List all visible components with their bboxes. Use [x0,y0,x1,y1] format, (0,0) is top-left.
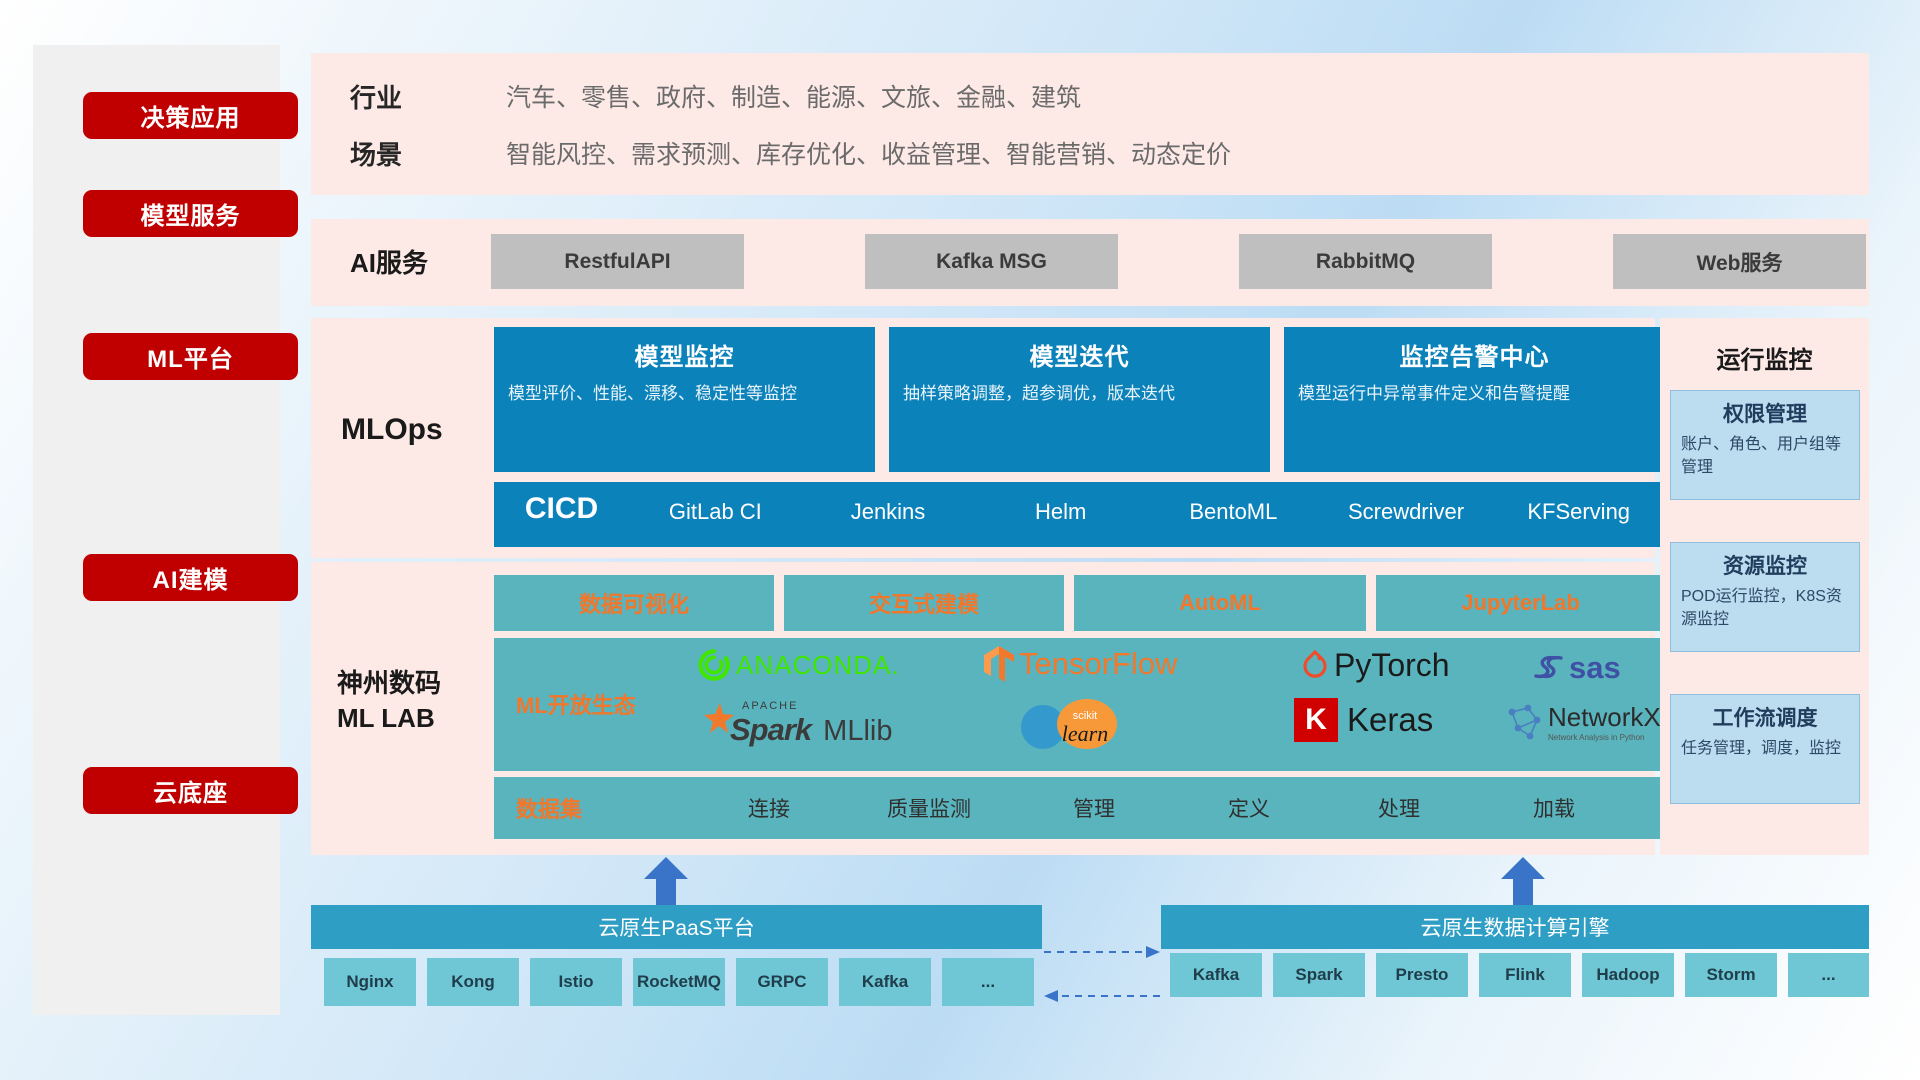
dataset-item-quality-monitor[interactable]: 质量监测 [844,777,1014,839]
keras-k-letter: K [1305,703,1327,737]
cicd-item-gitlab-ci[interactable]: GitLab CI [629,482,802,527]
ai-service-label: AI服务 [350,243,428,280]
dataset-item-connect[interactable]: 连接 [694,777,844,839]
cicd-item-kfserving[interactable]: KFServing [1492,482,1665,527]
cicd-item-jenkins[interactable]: Jenkins [802,482,975,527]
bidirectional-dashed-connector-icon [1042,940,1162,1010]
dataset-label: 数据集 [516,777,582,839]
tensorflow-logo: TensorFlow [982,644,1178,684]
cicd-strip: CICD GitLab CI Jenkins Helm BentoML Scre… [494,482,1665,547]
cicd-item-helm[interactable]: Helm [974,482,1147,527]
mlops-panel: MLOps 模型监控 模型评价、性能、漂移、稳定性等监控 模型迭代 抽样策略调整… [311,318,1655,558]
sas-logo: sas [1533,650,1621,686]
pytorch-mark [1300,649,1330,683]
engine-chip-hadoop[interactable]: Hadoop [1582,953,1674,997]
mllab-label-line2: ML LAB [337,701,441,736]
rail-item-decision-app[interactable]: 决策应用 [83,92,298,139]
mlops-card-title: 监控告警中心 [1298,337,1651,372]
pytorch-logo: PyTorch [1300,647,1450,684]
runtime-monitoring-panel: 运行监控 权限管理 账户、角色、用户组等管理 资源监控 POD运行监控，K8S资… [1660,318,1869,855]
anaconda-wordmark: ANACONDA. [736,650,900,681]
monitor-card-resource[interactable]: 资源监控 POD运行监控，K8S资源监控 [1670,542,1860,652]
mlops-card-alert-center[interactable]: 监控告警中心 模型运行中异常事件定义和告警提醒 [1284,327,1665,472]
keras-logo: K Keras [1294,698,1433,742]
mllab-eco-label: ML开放生态 [516,686,636,722]
ai-service-restfulapi[interactable]: RestfulAPI [491,234,744,289]
engine-chip-presto[interactable]: Presto [1376,953,1468,997]
engine-chip-more[interactable]: ... [1788,953,1869,997]
dataset-item-load[interactable]: 加载 [1474,777,1634,839]
ai-service-kafka-msg[interactable]: Kafka MSG [865,234,1118,289]
dataset-item-manage[interactable]: 管理 [1014,777,1174,839]
anaconda-mark [697,648,731,682]
mllab-tab-automl[interactable]: AutoML [1074,575,1366,631]
dataset-item-define[interactable]: 定义 [1174,777,1324,839]
mllib-wordmark: MLlib [823,715,892,748]
monitor-card-title: 工作流调度 [1681,702,1849,732]
scenario-value: 智能风控、需求预测、库存优化、收益管理、智能营销、动态定价 [506,135,1231,171]
monitor-card-workflow[interactable]: 工作流调度 任务管理，调度，监控 [1670,694,1860,804]
anaconda-logo: ANACONDA. [697,648,900,682]
cicd-item-screwdriver[interactable]: Screwdriver [1320,482,1493,527]
industry-value: 汽车、零售、政府、制造、能源、文旅、金融、建筑 [506,78,1081,114]
architecture-diagram: 决策应用 模型服务 ML平台 AI建模 云底座 行业 汽车、零售、政府、制造、能… [0,0,1920,1080]
scenario-label: 场景 [350,135,402,172]
mlops-card-desc: 抽样策略调整，超参调优，版本迭代 [903,382,1256,407]
mlops-card-model-iteration[interactable]: 模型迭代 抽样策略调整，超参调优，版本迭代 [889,327,1270,472]
tensorflow-mark [982,644,1016,684]
mllab-tab-interactive-modeling[interactable]: 交互式建模 [784,575,1064,631]
engine-up-arrow-icon [1499,857,1547,907]
rail-item-cloud-base[interactable]: 云底座 [83,767,298,814]
spark-mllib-logo: APACHE Spark MLlib [682,700,892,748]
rail-item-ml-platform[interactable]: ML平台 [83,333,298,380]
mlops-label: MLOps [341,413,443,447]
mlops-card-desc: 模型运行中异常事件定义和告警提醒 [1298,382,1651,407]
ai-service-panel: AI服务 RestfulAPI Kafka MSG RabbitMQ Web服务 [311,219,1869,306]
engine-title-bar[interactable]: 云原生数据计算引擎 [1161,905,1869,949]
scikit-learn-logo: scikit learn [1015,699,1135,751]
svg-text:learn: learn [1062,721,1108,746]
tensorflow-wordmark: TensorFlow [1019,646,1178,682]
engine-chip-kafka[interactable]: Kafka [1170,953,1262,997]
keras-mark: K [1294,698,1338,742]
spark-apache-text: APACHE [742,700,811,712]
ai-service-rabbitmq[interactable]: RabbitMQ [1239,234,1492,289]
monitor-card-desc: 账户、角色、用户组等管理 [1681,434,1849,479]
networkx-wordmark: NetworkX [1548,702,1661,733]
scikit-learn-mark: scikit learn [1015,699,1135,751]
mlops-card-desc: 模型评价、性能、漂移、稳定性等监控 [508,382,861,407]
pytorch-wordmark: PyTorch [1334,647,1450,684]
sas-wordmark: sas [1569,650,1621,686]
keras-wordmark: Keras [1347,701,1433,739]
networkx-tagline: Network Analysis in Python [1548,733,1661,742]
mllab-dataset-band: 数据集 连接 质量监测 管理 定义 处理 加载 [494,777,1665,839]
spark-wordmark: Spark [730,712,811,748]
mllab-tab-jupyterlab[interactable]: JupyterLab [1376,575,1665,631]
monitor-card-desc: 任务管理，调度，监控 [1681,738,1849,761]
paas-chip-more[interactable]: ... [942,958,1034,1006]
paas-title-bar[interactable]: 云原生PaaS平台 [311,905,1042,949]
networkx-logo: NetworkX Network Analysis in Python [1504,702,1661,742]
engine-chip-spark[interactable]: Spark [1273,953,1365,997]
paas-chip-istio[interactable]: Istio [530,958,622,1006]
engine-chip-flink[interactable]: Flink [1479,953,1571,997]
cicd-item-bentoml[interactable]: BentoML [1147,482,1320,527]
decision-app-panel: 行业 汽车、零售、政府、制造、能源、文旅、金融、建筑 场景 智能风控、需求预测、… [311,53,1869,195]
rail-item-model-service[interactable]: 模型服务 [83,190,298,237]
runtime-monitoring-title: 运行监控 [1660,340,1869,375]
engine-chip-storm[interactable]: Storm [1685,953,1777,997]
networkx-mark [1504,702,1544,742]
mllab-eco-band: ML开放生态 ANACONDA. TensorFlow [494,638,1665,771]
mllab-label: 神州数码 ML LAB [337,666,441,736]
mlops-card-model-monitor[interactable]: 模型监控 模型评价、性能、漂移、稳定性等监控 [494,327,875,472]
sas-mark [1533,653,1567,683]
cicd-title: CICD [494,482,629,526]
mlops-card-title: 模型迭代 [903,337,1256,372]
monitor-card-title: 资源监控 [1681,550,1849,580]
industry-label: 行业 [350,78,402,115]
mllab-tab-data-visualization[interactable]: 数据可视化 [494,575,774,631]
layer-rail: 决策应用 模型服务 ML平台 AI建模 云底座 [33,45,280,1015]
rail-item-ai-modeling[interactable]: AI建模 [83,554,298,601]
monitor-card-title: 权限管理 [1681,398,1849,428]
paas-chip-rocketmq[interactable]: RocketMQ [633,958,725,1006]
mllab-label-line1: 神州数码 [337,666,441,701]
paas-chip-nginx[interactable]: Nginx [324,958,416,1006]
paas-chip-grpc[interactable]: GRPC [736,958,828,1006]
monitor-card-permission[interactable]: 权限管理 账户、角色、用户组等管理 [1670,390,1860,500]
paas-up-arrow-icon [642,857,690,907]
mlops-card-title: 模型监控 [508,337,861,372]
paas-chip-kong[interactable]: Kong [427,958,519,1006]
dataset-item-process[interactable]: 处理 [1324,777,1474,839]
monitor-card-desc: POD运行监控，K8S资源监控 [1681,586,1849,631]
mllab-panel: 神州数码 ML LAB 数据可视化 交互式建模 AutoML JupyterLa… [311,562,1655,855]
ai-service-web[interactable]: Web服务 [1613,234,1866,289]
paas-chip-kafka[interactable]: Kafka [839,958,931,1006]
spark-mark [682,700,736,748]
